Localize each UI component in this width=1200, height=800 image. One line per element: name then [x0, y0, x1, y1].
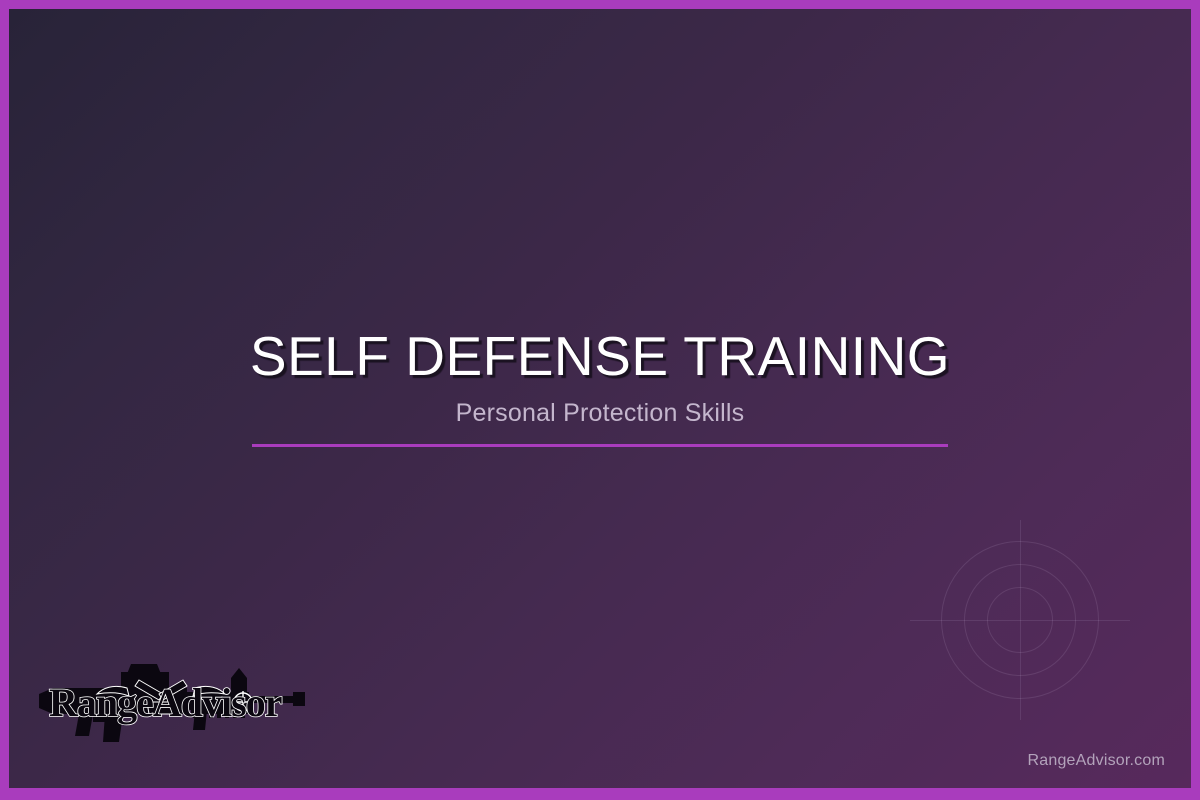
presentation-slide: SELF DEFENSE TRAINING Personal Protectio… — [0, 0, 1200, 800]
target-ring-outer — [941, 541, 1099, 699]
title-block: SELF DEFENSE TRAINING Personal Protectio… — [9, 327, 1191, 447]
brand-logo: RangeAdvisor — [35, 658, 313, 750]
page-subtitle: Personal Protection Skills — [9, 399, 1191, 428]
page-title: SELF DEFENSE TRAINING — [9, 327, 1191, 385]
slide-canvas: SELF DEFENSE TRAINING Personal Protectio… — [9, 9, 1191, 788]
footer-website-url: RangeAdvisor.com — [1028, 752, 1166, 770]
accent-divider — [252, 444, 948, 447]
target-crosshair-horizontal — [910, 620, 1130, 621]
target-ring-middle — [964, 564, 1076, 676]
target-crosshair-vertical — [1020, 520, 1021, 720]
target-ring-inner — [987, 587, 1053, 653]
brand-logo-text: RangeAdvisor — [49, 680, 282, 725]
